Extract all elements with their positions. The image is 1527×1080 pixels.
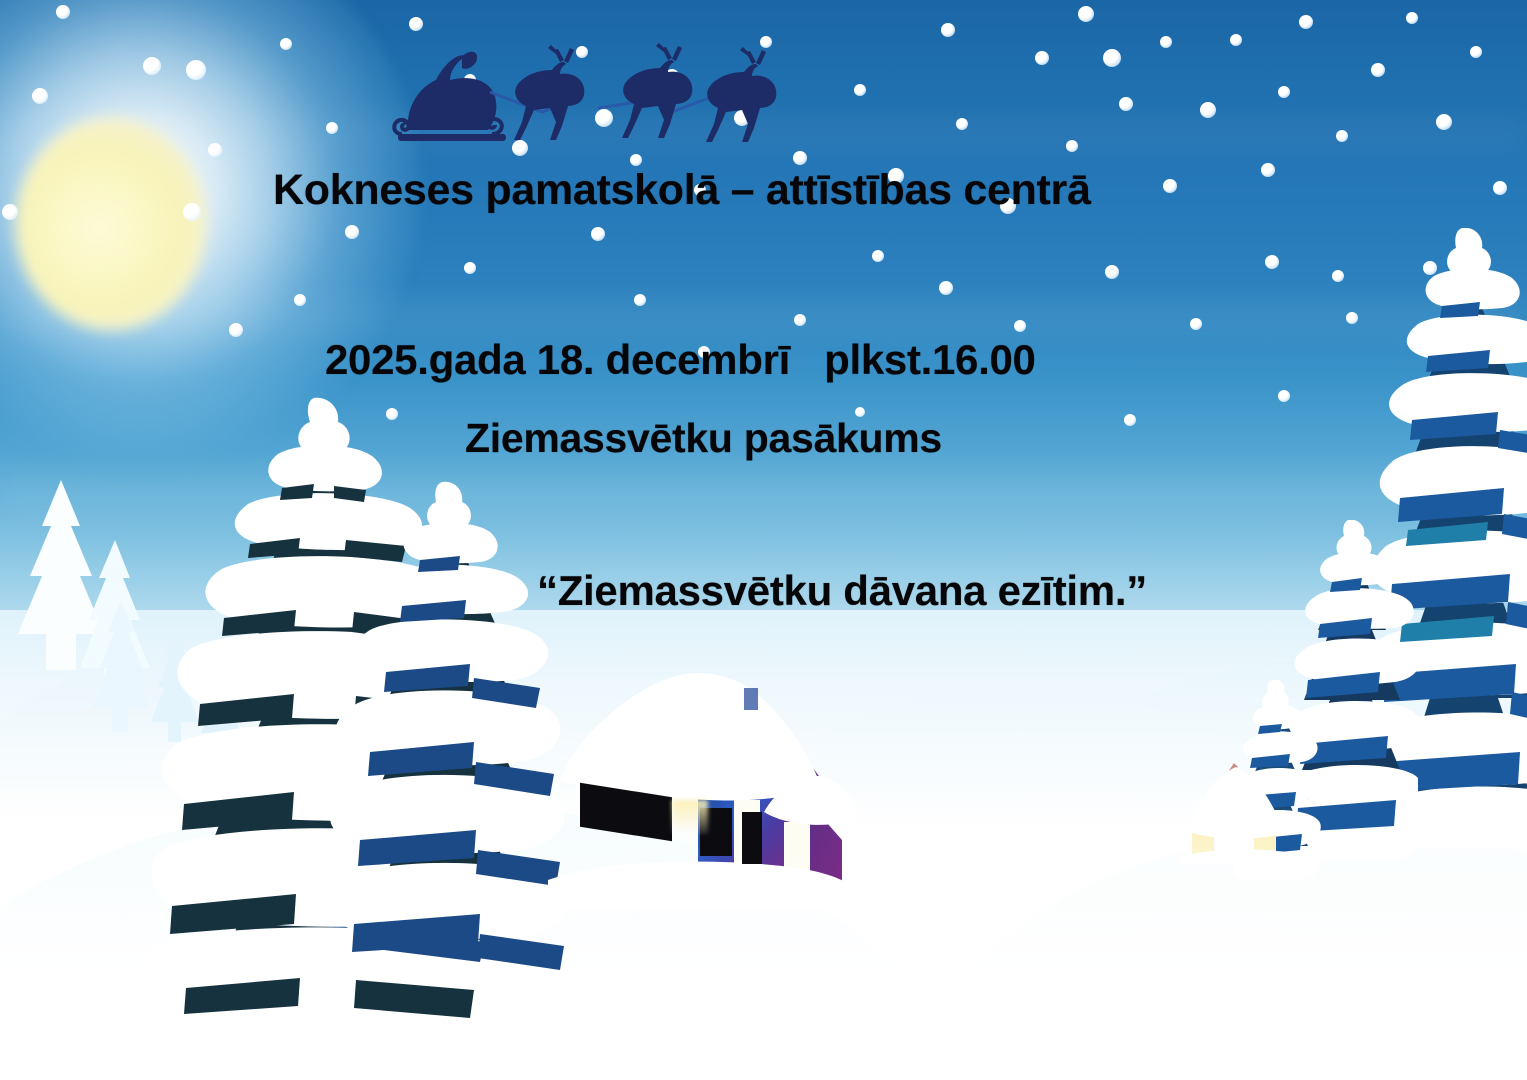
winter-event-poster: Kokneses pamatskolā – attīstības centrā … [0, 0, 1527, 1080]
poster-date-time: 2025.gada 18. decembrī plkst.16.00 [325, 336, 1036, 384]
poster-event-name: Ziemassvētku pasākums [465, 415, 942, 462]
poster-title: Kokneses pamatskolā – attīstības centrā [273, 166, 1091, 215]
poster-quote: “Ziemassvētku dāvana ezītim.” [537, 567, 1147, 615]
poster-text-layer: Kokneses pamatskolā – attīstības centrā … [0, 0, 1527, 1080]
